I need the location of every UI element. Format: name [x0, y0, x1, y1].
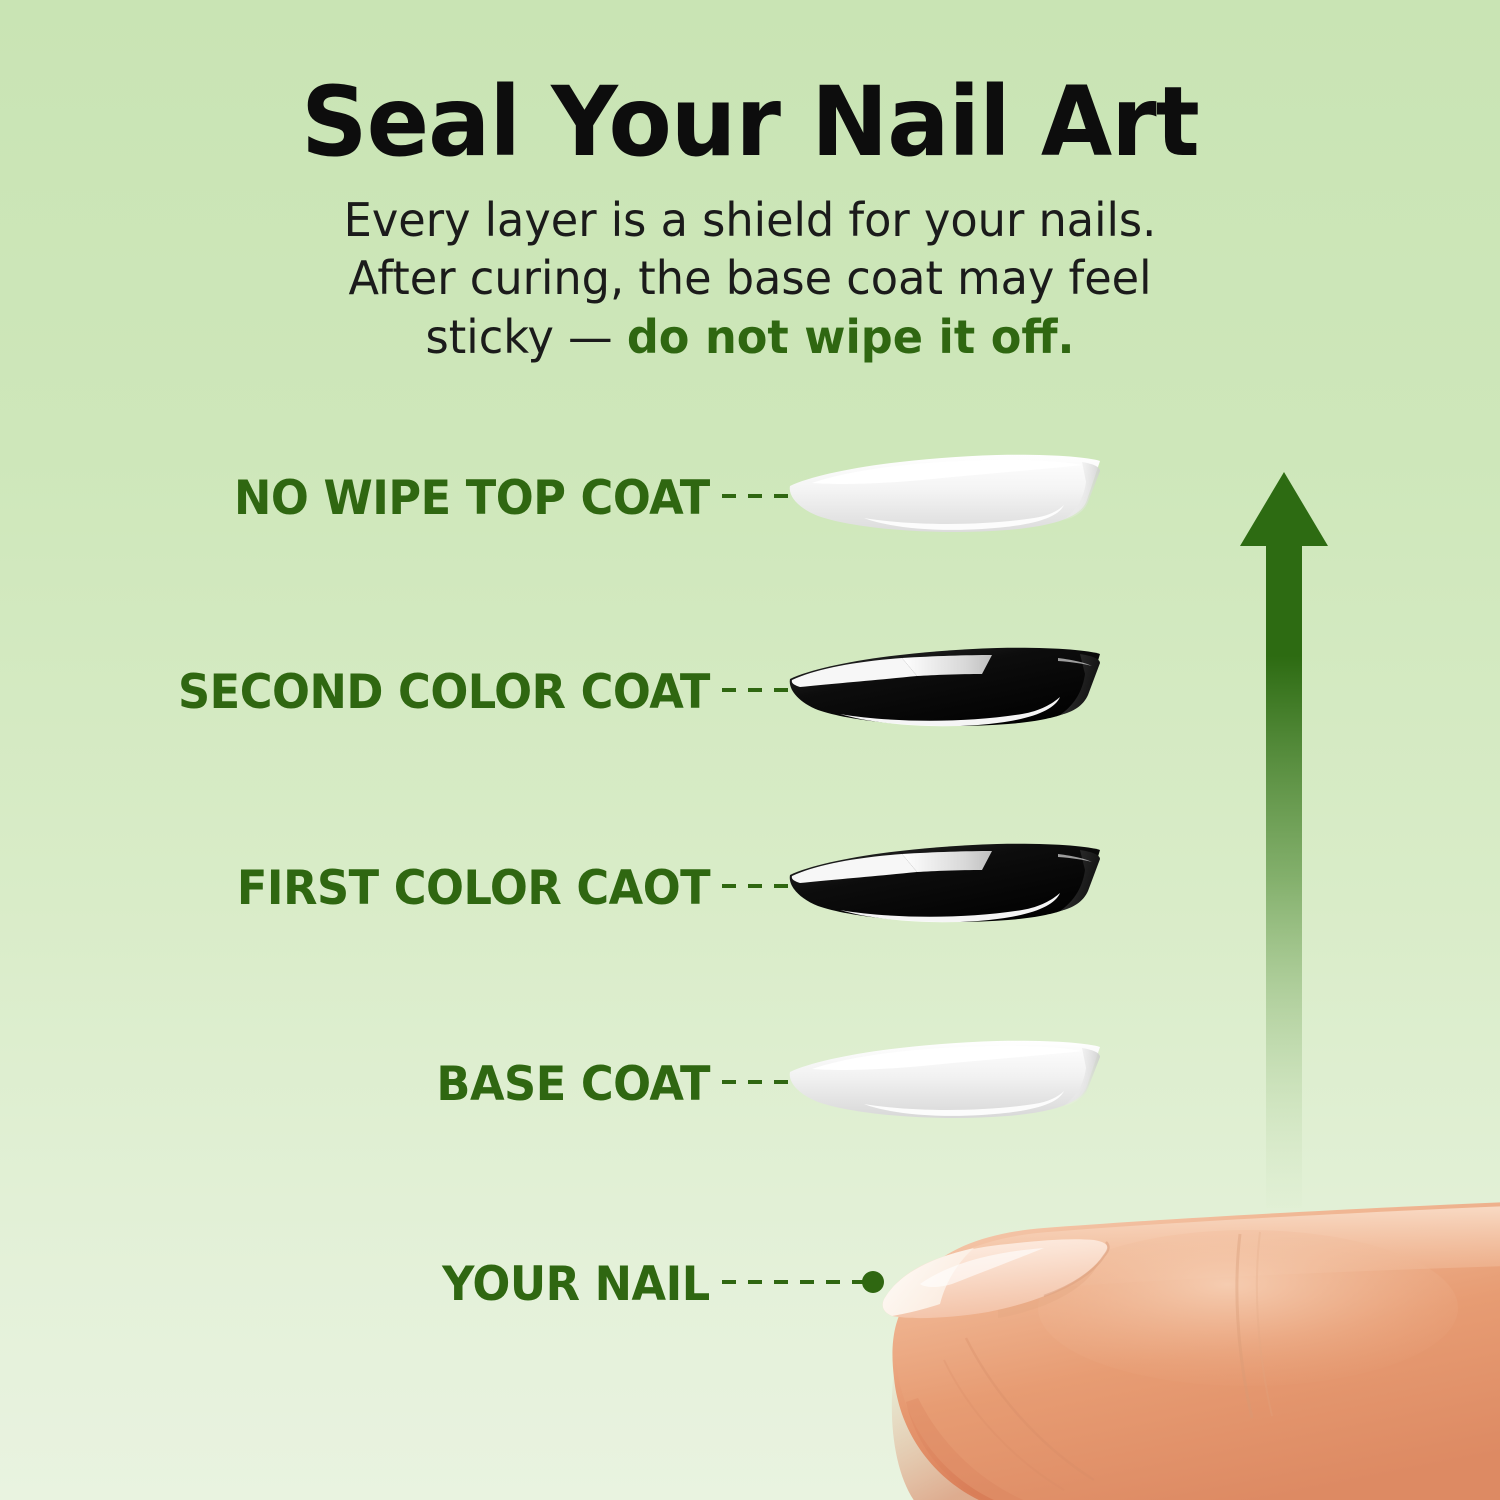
subtitle-line-3-plain: sticky —	[426, 310, 627, 364]
header: Seal Your Nail Art Every layer is a shie…	[0, 0, 1500, 366]
page-title: Seal Your Nail Art	[30, 72, 1470, 173]
subtitle: Every layer is a shield for your nails. …	[23, 191, 1478, 366]
nail-tip-icon	[782, 828, 1112, 946]
upward-arrow-icon	[1236, 468, 1336, 1208]
subtitle-line-2: After curing, the base coat may feel	[348, 251, 1151, 305]
layer-label-first-color-coat: FIRST COLOR CAOT	[237, 861, 710, 916]
finger-icon	[848, 1188, 1500, 1500]
infographic-poster: Seal Your Nail Art Every layer is a shie…	[0, 0, 1500, 1500]
layer-label-your-nail: YOUR NAIL	[442, 1257, 710, 1312]
layer-label-no-wipe-top-coat: NO WIPE TOP COAT	[234, 471, 710, 526]
subtitle-emphasis: do not wipe it off.	[627, 310, 1075, 364]
nail-tip-icon	[782, 632, 1112, 750]
layer-label-second-color-coat: SECOND COLOR COAT	[178, 665, 710, 720]
layer-label-base-coat: BASE COAT	[436, 1057, 710, 1112]
nail-tip-icon	[782, 438, 1112, 556]
nail-tip-icon	[782, 1024, 1112, 1142]
subtitle-line-1: Every layer is a shield for your nails.	[344, 193, 1157, 247]
